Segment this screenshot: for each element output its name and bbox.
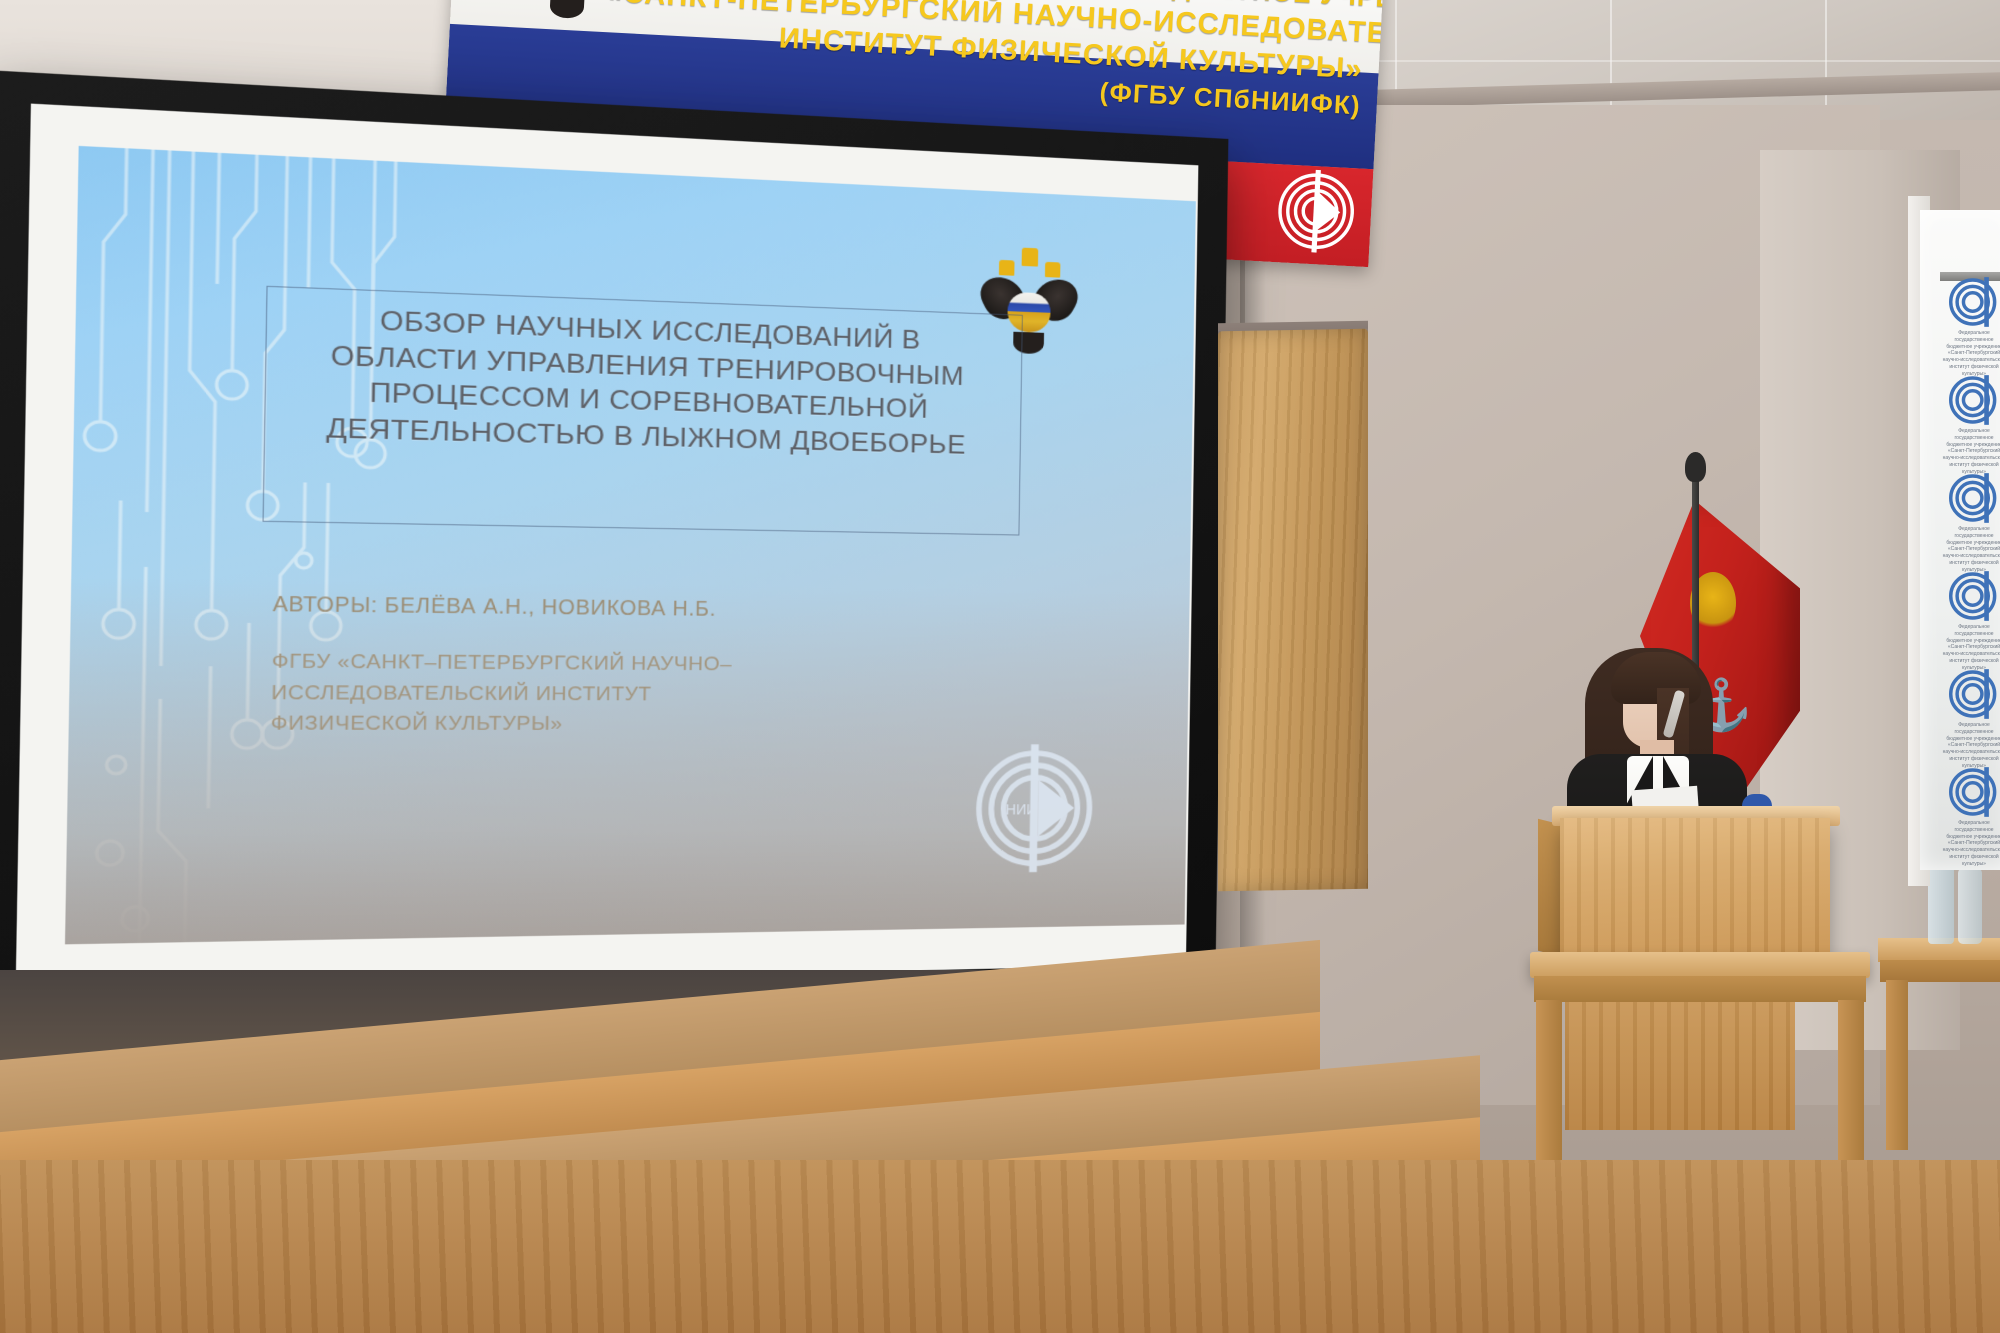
slide-affiliation-line-2: ИССЛЕДОВАТЕЛЬСКИЙ ИНСТИТУТ [271, 678, 753, 710]
water-bottle-secondary [1958, 868, 1982, 944]
slide-affiliation-line-3: ФИЗИЧЕСКОЙ КУЛЬТУРЫ» [270, 709, 752, 740]
slide-affiliation-line-1: ФГБУ «САНКТ–ПЕТЕРБУРГСКИЙ НАУЧНО– [272, 647, 754, 680]
niifk-logo [1946, 374, 2000, 426]
crown-left [999, 259, 1015, 276]
niifk-logo-text: НИИ [1006, 803, 1037, 819]
logo-cell: Федеральное государственное бюджетное уч… [1940, 468, 2000, 566]
screen-surface: ОБЗОР НАУЧНЫХ ИССЛЕДОВАНИЙ В ОБЛАСТИ УПР… [16, 104, 1199, 990]
wooden-table [1530, 952, 1870, 978]
logo-cell-caption: Федеральное государственное бюджетное уч… [1942, 820, 2000, 867]
presentation-title-slide: ОБЗОР НАУЧНЫХ ИССЛЕДОВАНИЙ В ОБЛАСТИ УПР… [65, 146, 1196, 944]
table-apron [1534, 976, 1866, 1002]
crown-center [1021, 248, 1038, 267]
projection-screen: ОБЗОР НАУЧНЫХ ИССЛЕДОВАНИЙ В ОБЛАСТИ УПР… [0, 82, 1216, 1005]
flag-pole-finial [1685, 452, 1706, 482]
niifk-logo [1946, 766, 2000, 818]
niifk-logo [1946, 276, 2000, 328]
water-bottle [1928, 860, 1954, 944]
slide-affiliation: ФГБУ «САНКТ–ПЕТЕРБУРГСКИЙ НАУЧНО– ИССЛЕД… [270, 647, 753, 740]
side-table-apron [1880, 960, 2000, 982]
logo-cell: Федеральное государственное бюджетное уч… [1940, 370, 2000, 468]
niifk-logo-banner-strip: Федеральное государственное бюджетное уч… [1940, 272, 2000, 872]
wooden-podium [1560, 818, 1830, 958]
niifk-logo: НИИ [967, 742, 1102, 875]
podium-wood-grain [1560, 818, 1830, 958]
door-wood-grain [1218, 329, 1368, 892]
niifk-logo [1946, 570, 2000, 622]
niifk-logo [1271, 166, 1361, 256]
logo-cell: Федеральное государственное бюджетное уч… [1940, 762, 2000, 860]
logo-cell: Федеральное государственное бюджетное уч… [1940, 664, 2000, 762]
slide-title: ОБЗОР НАУЧНЫХ ИССЛЕДОВАНИЙ В ОБЛАСТИ УПР… [273, 299, 1014, 463]
hall-floor [0, 1160, 2000, 1333]
stage-door[interactable] [1218, 329, 1368, 892]
logo-cell: Федеральное государственное бюджетное уч… [1940, 272, 2000, 370]
conference-hall-scene: ФЕДЕРАЛЬНОЕ ГОСУДАРСТВЕННОЕ БЮДЖЕТНОЕ УЧ… [0, 0, 2000, 1333]
niifk-logo [1946, 472, 2000, 524]
crown-right [1045, 261, 1061, 277]
logo-cell: Федеральное государственное бюджетное уч… [1940, 566, 2000, 664]
niifk-logo [1946, 668, 2000, 720]
side-table-leg [1886, 980, 1908, 1150]
floor-wood-grain [0, 1160, 2000, 1333]
